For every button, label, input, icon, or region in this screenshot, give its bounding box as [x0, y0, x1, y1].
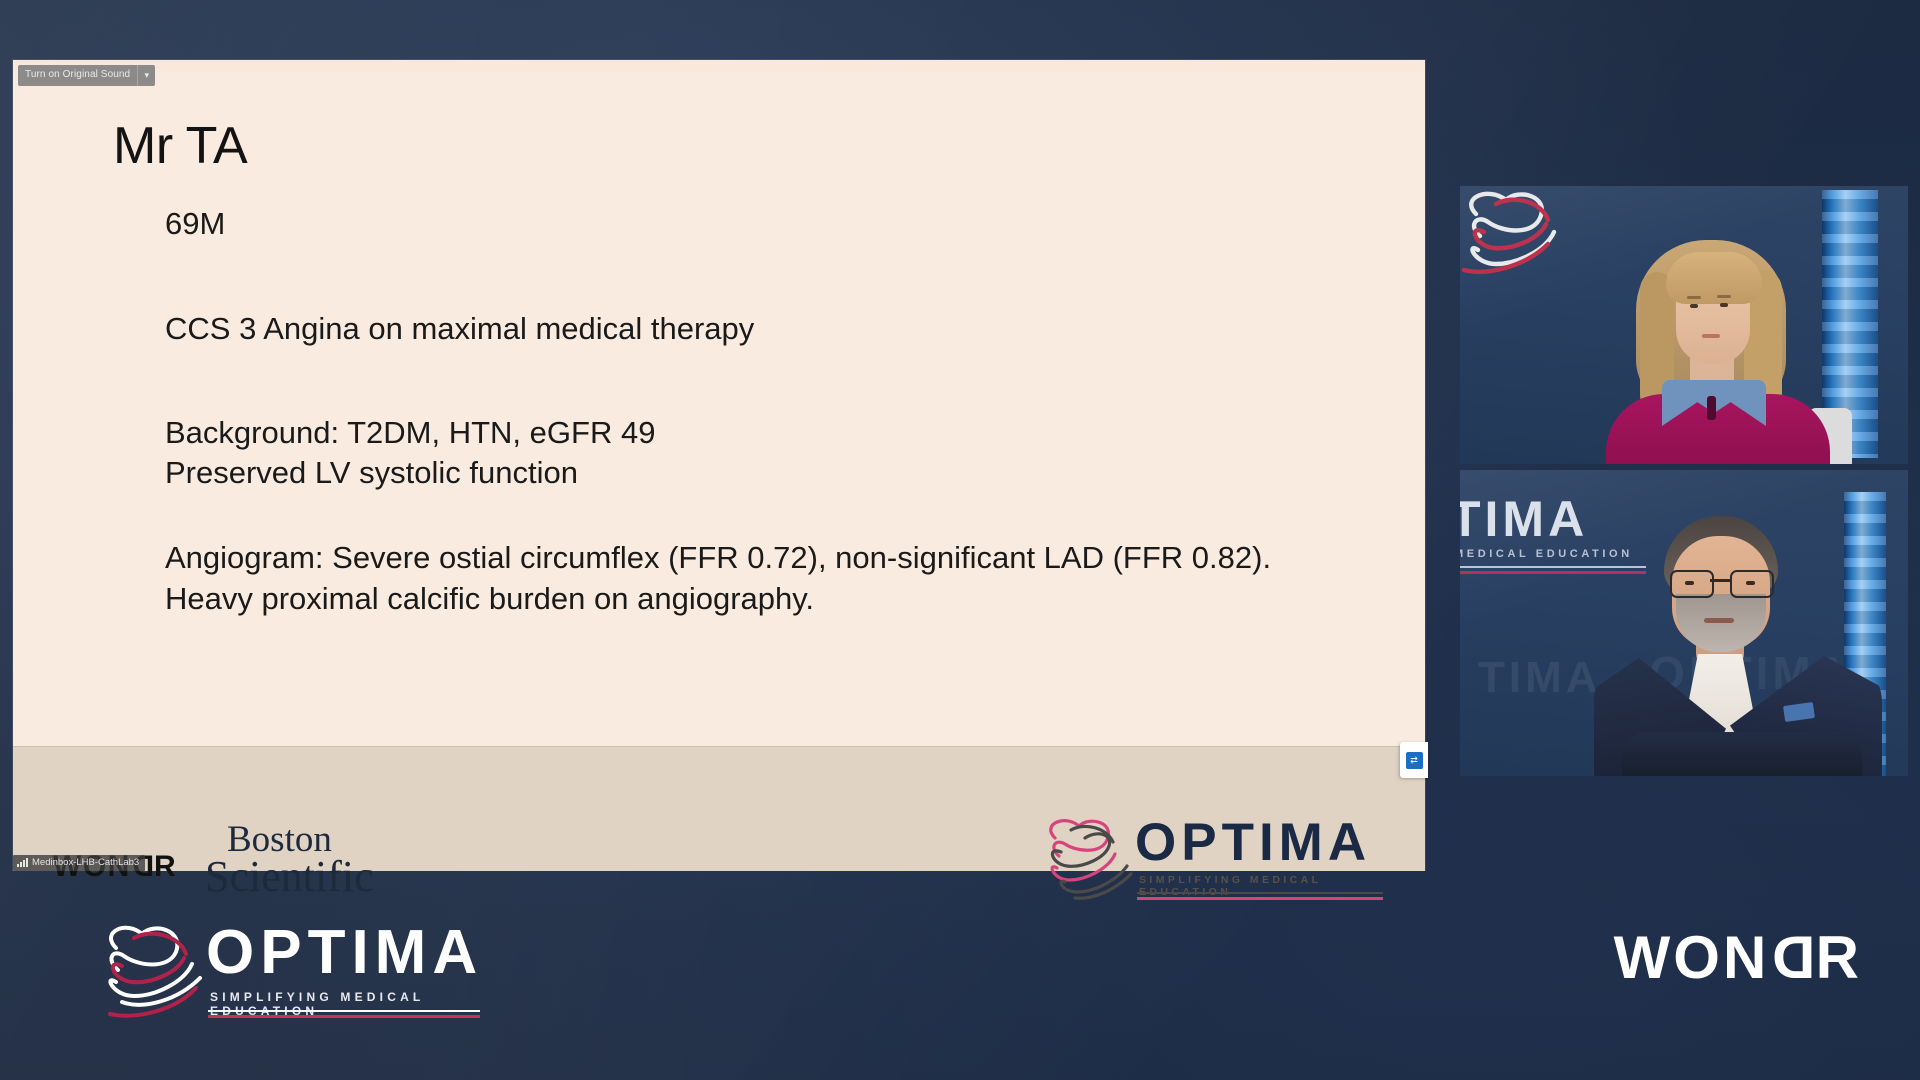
- slide-line-lv-function: Preserved LV systolic function: [165, 453, 578, 494]
- share-indicator-badge[interactable]: ⇄: [1400, 742, 1428, 778]
- optima-wordmark-slide: OPTIMA: [1135, 816, 1371, 869]
- optima-squiggle-heart-icon: [1035, 812, 1147, 902]
- optima-bottom-rule-pink: [208, 1015, 480, 1018]
- signal-bars-icon: [17, 858, 28, 867]
- slide-line-background: Background: T2DM, HTN, eGFR 49: [165, 413, 655, 454]
- speaker-tile-2[interactable]: TIMA MEDICAL EDUCATION TIMA OPTIMA: [1460, 470, 1908, 776]
- optima-logo-bottom: OPTIMA SIMPLIFYING MEDICAL EDUCATION: [92, 912, 492, 1030]
- video-source-name: Medinbox-LHB-CathLab3: [32, 858, 139, 868]
- backdrop-ghost-word: TIMA: [1478, 656, 1602, 700]
- slide-line-age: 69M: [165, 204, 225, 245]
- boston-scientific-logo: Boston Scientific: [205, 823, 374, 898]
- optima-logo-slide: OPTIMA SIMPLIFYING MEDICAL EDUCATION: [1035, 808, 1385, 906]
- optima-bottom-rule-white: [208, 1010, 480, 1012]
- slide-line-diagnosis: CCS 3 Angina on maximal medical therapy: [165, 309, 754, 350]
- panellist-1-figure: [1592, 228, 1842, 464]
- shared-screen-slide[interactable]: Mr TA 69M CCS 3 Angina on maximal medica…: [13, 60, 1425, 870]
- optima-tagline-bottom: SIMPLIFYING MEDICAL EDUCATION: [210, 990, 492, 1018]
- slide-title: Mr TA: [113, 120, 247, 172]
- original-sound-dropdown-caret-icon[interactable]: ▾: [137, 65, 155, 86]
- share-chip-icon: ⇄: [1406, 752, 1423, 769]
- optima-tagline-slide: SIMPLIFYING MEDICAL EDUCATION: [1139, 874, 1385, 898]
- original-sound-control[interactable]: Turn on Original Sound ▾: [18, 65, 155, 86]
- turn-on-original-sound-button[interactable]: Turn on Original Sound: [18, 65, 137, 86]
- optima-squiggle-heart-icon-backdrop: [1460, 186, 1594, 290]
- optima-rule-pink: [1137, 897, 1383, 900]
- slide-line-angiogram: Angiogram: Severe ostial circumflex (FFR…: [165, 538, 1345, 620]
- video-source-label: Medinbox-LHB-CathLab3: [13, 855, 145, 871]
- boston-line-2: Scientific: [205, 857, 374, 898]
- optima-wordmark-bottom: OPTIMA: [206, 922, 483, 984]
- optima-rule-dark: [1137, 892, 1383, 894]
- backdrop-optima-word: TIMA: [1460, 494, 1588, 544]
- panellist-2-figure: [1588, 508, 1888, 776]
- speaker-tile-1[interactable]: [1460, 186, 1908, 464]
- slide-body: Mr TA 69M CCS 3 Angina on maximal medica…: [13, 72, 1425, 746]
- wondr-logo-bottom: WONDR: [1614, 928, 1862, 988]
- optima-squiggle-heart-icon-bottom: [92, 918, 220, 1022]
